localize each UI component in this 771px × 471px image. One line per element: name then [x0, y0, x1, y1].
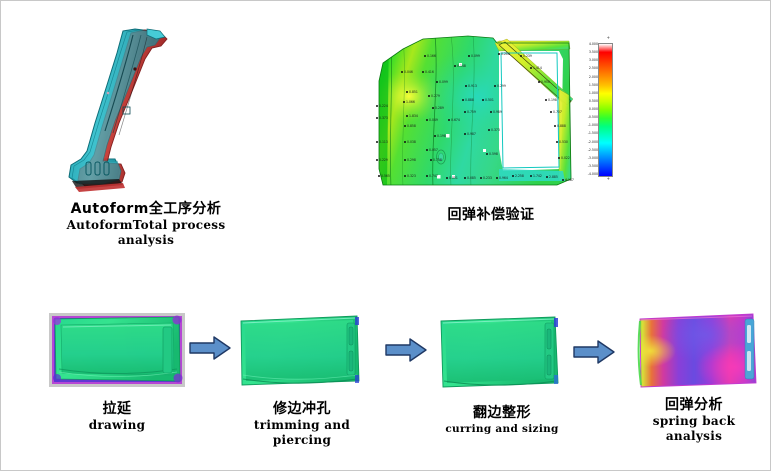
- caption-autoform-en-1: AutoformTotal process: [21, 218, 271, 233]
- step-drawing-en: drawing: [32, 418, 202, 433]
- legend-top-marker: +: [607, 35, 610, 40]
- legend-tick: 1.500: [589, 84, 598, 87]
- contour-node-label: 0.851: [409, 91, 418, 94]
- flow-arrow-2: [385, 337, 427, 363]
- step-trimming-cn: 修边冲孔: [217, 401, 387, 418]
- contour-node-label: 1.414: [533, 67, 542, 70]
- caption-springback-cn: 回弹补偿验证: [396, 207, 586, 224]
- contour-node-label: 0.416: [425, 71, 434, 74]
- contour-node-label: 0.206: [501, 53, 510, 56]
- contour-node-label: 0.373: [379, 117, 388, 120]
- legend-tick: 2.000: [589, 76, 598, 79]
- contour-node-label: 0.298: [407, 159, 416, 162]
- contour-node-label: 0.279: [431, 95, 440, 98]
- contour-node-label: 0.858: [407, 125, 416, 128]
- legend-tick: 3.000: [589, 59, 598, 62]
- contour-node-label: 0.148: [457, 65, 466, 68]
- step-curring-cn: 翻边整形: [417, 405, 587, 422]
- contour-node-label: 4.187: [565, 179, 574, 182]
- caption-springback-verification: 回弹补偿验证: [396, 207, 586, 224]
- contour-node-label: 0.113: [379, 141, 388, 144]
- a-pillar-cad-figure: [61, 19, 191, 199]
- contour-node-label: 0.501: [485, 99, 494, 102]
- step-curring-en: curring and sizing: [417, 422, 587, 436]
- contour-node-label: 0.049: [429, 119, 438, 122]
- caption-autoform-cn: Autoform全工序分析: [21, 201, 271, 218]
- legend-tick: -1.500: [588, 132, 598, 135]
- springback-contour-figure: 0.2240.1660.0990.2060.2390.0460.4160.148…: [373, 29, 573, 189]
- contour-node-label: 2.885: [549, 176, 558, 179]
- contour-node-label: 0.099: [439, 81, 448, 84]
- contour-node-label: 0.565: [381, 175, 390, 178]
- contour-node-label: 0.950: [541, 81, 550, 84]
- contour-node-label: 1.742: [533, 175, 542, 178]
- legend-tick: 0.500: [589, 100, 598, 103]
- contour-node-label: 0.198: [437, 135, 446, 138]
- flange-panel-svg: [437, 313, 567, 391]
- figure-trimmed-pierced-panel: [237, 313, 367, 389]
- contour-node-label: 0.198: [548, 99, 557, 102]
- legend-tick: -3.500: [588, 165, 598, 168]
- caption-step-drawing: 拉延 drawing: [32, 401, 202, 433]
- contour-node-label: 0.987: [467, 133, 476, 136]
- legend-tick: 4.000: [589, 43, 598, 46]
- drawing-panel-svg: [47, 309, 187, 391]
- arrow-right-icon: [189, 335, 231, 361]
- contour-node-label: 0.046: [404, 71, 413, 74]
- contour-svg: [373, 29, 573, 189]
- contour-node-label: 0.051: [449, 177, 458, 180]
- contour-node-label: 1.834: [409, 115, 418, 118]
- contour-node-label: 0.888: [557, 125, 566, 128]
- contour-node-label: 0.166: [427, 55, 436, 58]
- caption-step-trimming: 修边冲孔 trimming and piercing: [217, 401, 387, 448]
- step-trimming-en-1: trimming and: [217, 418, 387, 433]
- contour-node-label: 0.989: [493, 111, 502, 114]
- contour-node-label: 0.233: [483, 177, 492, 180]
- flow-arrow-1: [189, 335, 231, 361]
- contour-node-label: 0.038: [407, 141, 416, 144]
- contour-node-label: 0.747: [429, 175, 438, 178]
- legend-tick: 1.000: [589, 92, 598, 95]
- contour-color-legend: + 4.0003.5003.0002.5002.0001.5001.0000.5…: [579, 37, 631, 183]
- contour-node-label: 0.964: [499, 177, 508, 180]
- contour-node-label: 0.299: [497, 85, 506, 88]
- contour-node-label: 0.099: [471, 55, 480, 58]
- caption-step-springback: 回弹分析 spring back analysis: [609, 397, 771, 444]
- figure-drawing-die-panel: [47, 309, 187, 391]
- figure-flanged-sized-panel: [437, 313, 567, 391]
- legend-tick: 3.500: [589, 51, 598, 54]
- contour-node-label: 0.085: [467, 177, 476, 180]
- flow-arrow-3: [573, 339, 615, 365]
- step-trimming-en-2: piercing: [217, 433, 387, 448]
- contour-node-label: 1.066: [406, 101, 415, 104]
- step-drawing-cn: 拉延: [32, 401, 202, 418]
- contour-node-label: 0.759: [467, 111, 476, 114]
- contour-node-label: 0.530: [559, 141, 568, 144]
- slide-canvas: Autoform全工序分析 AutoformTotal process anal…: [1, 1, 770, 470]
- a-pillar-svg: [61, 19, 191, 199]
- legend-tick: -0.500: [588, 116, 598, 119]
- legend-bottom-marker: +: [607, 176, 610, 181]
- arrow-right-icon: [573, 339, 615, 365]
- caption-autoform-en-2: analysis: [21, 233, 271, 248]
- legend-color-bar: [598, 43, 613, 177]
- contour-node-label: 0.022: [561, 157, 570, 160]
- step-springback-en-2: analysis: [609, 429, 771, 444]
- arrow-right-icon: [385, 337, 427, 363]
- springback-panel-svg: [635, 311, 763, 391]
- contour-node-label: 0.707: [553, 111, 562, 114]
- caption-step-curring: 翻边整形 curring and sizing: [417, 405, 587, 436]
- contour-node-label: 0.888: [465, 99, 474, 102]
- contour-node-label: 0.913: [468, 85, 477, 88]
- step-springback-cn: 回弹分析: [609, 397, 771, 414]
- contour-node-label: 0.598: [489, 153, 498, 156]
- contour-node-label: 0.057: [429, 149, 438, 152]
- contour-node-label: 0.758: [433, 159, 442, 162]
- step-springback-en-1: spring back: [609, 414, 771, 429]
- contour-node-label: 0.674: [451, 119, 460, 122]
- contour-node-label: 0.224: [379, 105, 388, 108]
- contour-node-label: 0.229: [379, 159, 388, 162]
- legend-tick: -2.000: [588, 141, 598, 144]
- legend-tick: 2.500: [589, 67, 598, 70]
- legend-tick: -1.000: [588, 124, 598, 127]
- contour-node-label: 0.239: [523, 55, 532, 58]
- contour-node-label: 0.323: [407, 175, 416, 178]
- legend-tick: -2.500: [588, 149, 598, 152]
- figure-springback-result-panel: [635, 311, 763, 391]
- legend-tick: -3.000: [588, 157, 598, 160]
- legend-tick: -4.000: [588, 173, 598, 176]
- trim-panel-svg: [237, 313, 367, 389]
- contour-node-label: 2.258: [515, 175, 524, 178]
- contour-node-label: 0.289: [435, 107, 444, 110]
- caption-autoform-analysis: Autoform全工序分析 AutoformTotal process anal…: [21, 201, 271, 248]
- contour-node-label: 0.373: [491, 129, 500, 132]
- legend-tick: 0.000: [589, 108, 598, 111]
